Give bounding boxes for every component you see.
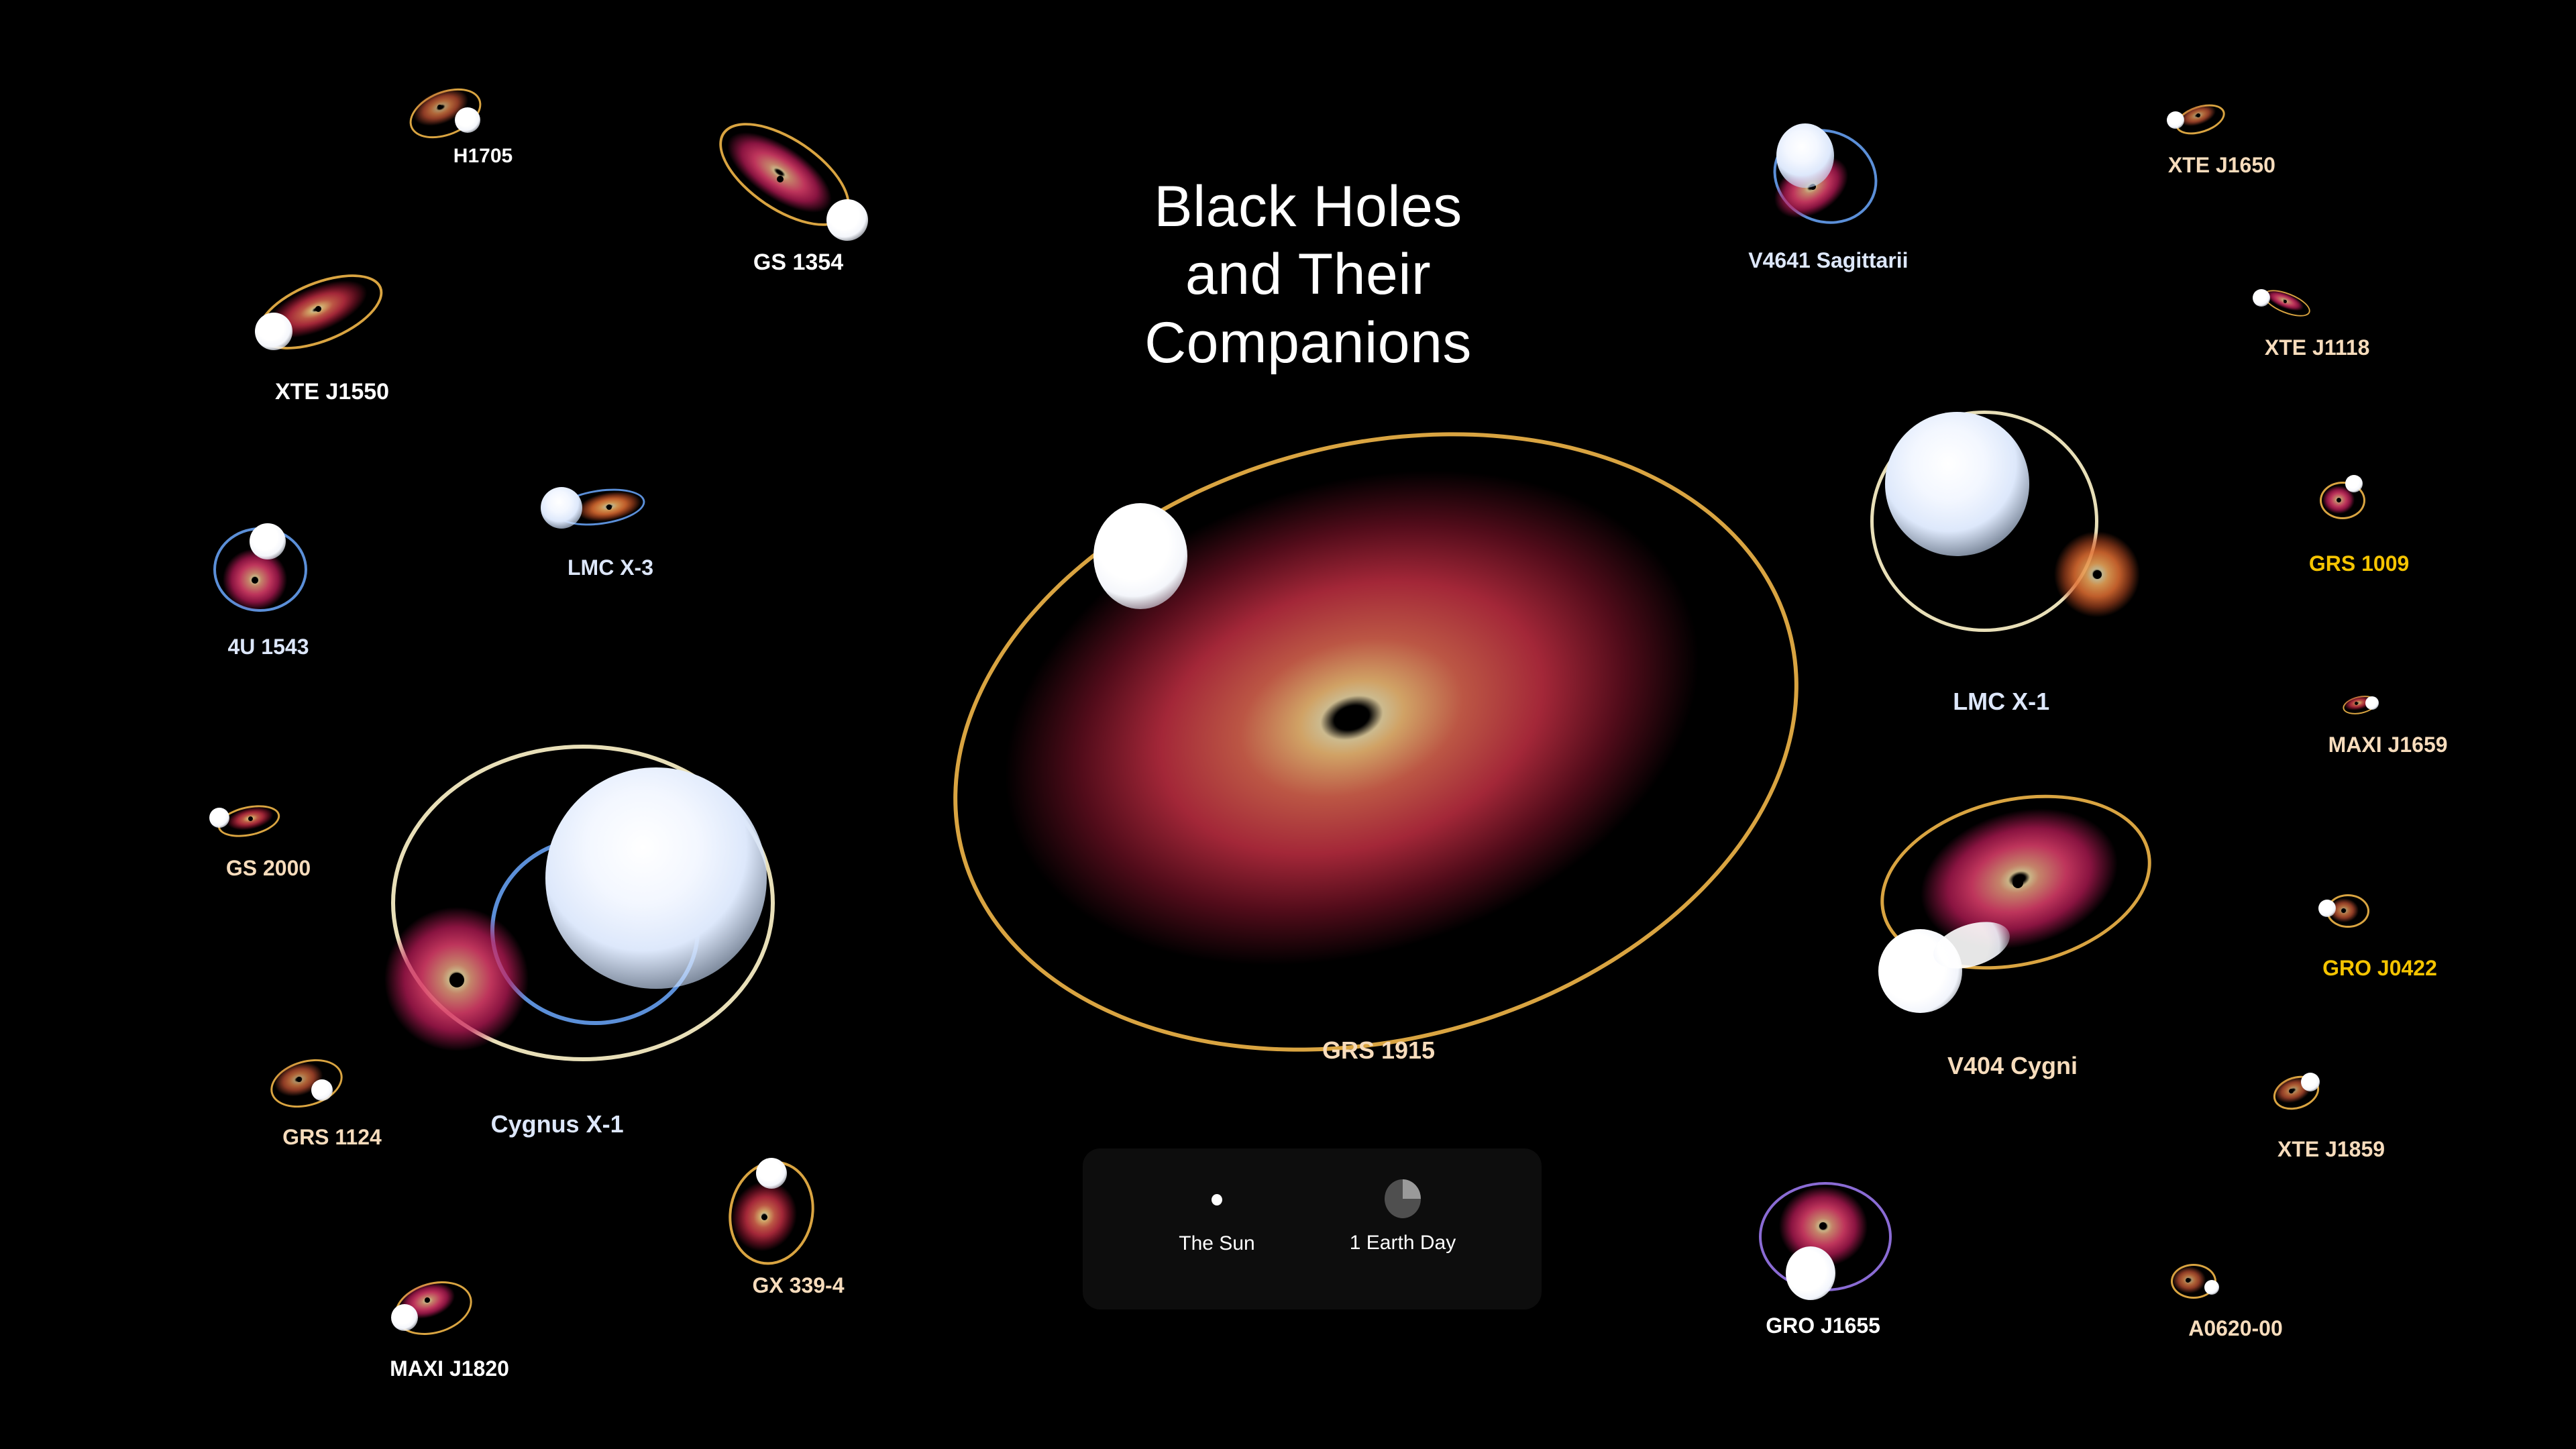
- black-hole-icon: [2093, 570, 2102, 579]
- system-grs1009[interactable]: GRS 1009: [2294, 470, 2449, 590]
- system-label: GRS 1124: [282, 1125, 382, 1150]
- companion-star-icon: [311, 1079, 333, 1101]
- companion-star-icon: [455, 107, 480, 133]
- black-hole-icon: [252, 577, 258, 584]
- companion-star-icon: [2318, 900, 2336, 917]
- companion-star-icon: [2167, 111, 2184, 129]
- system-v404cygni[interactable]: V404 Cygni: [1858, 792, 2194, 1073]
- black-hole-icon: [425, 1297, 430, 1303]
- black-hole-icon: [2012, 877, 2023, 888]
- system-label: GRS 1915: [1322, 1036, 1435, 1065]
- system-lmcx1[interactable]: LMC X-1: [1858, 402, 2207, 698]
- legend-item-the-sun: The Sun: [1143, 1178, 1291, 1255]
- companion-star-icon: [1885, 412, 2029, 556]
- system-xtej1859[interactable]: XTE J1859: [2247, 1063, 2415, 1177]
- system-groj0422[interactable]: GRO J0422: [2301, 889, 2469, 996]
- companion-star-icon: [209, 808, 229, 828]
- system-label: XTE J1650: [2168, 153, 2275, 178]
- legend-item-one-earth-day: 1 Earth Day: [1326, 1178, 1480, 1254]
- companion-star-icon: [2253, 289, 2270, 307]
- companion-star-icon: [2204, 1280, 2219, 1295]
- companion-star-icon: [250, 523, 286, 559]
- system-cygnusx1[interactable]: Cygnus X-1: [366, 731, 822, 1161]
- system-lmcx3[interactable]: LMC X-3: [517, 476, 704, 604]
- binary-art-v404cygni: [1858, 792, 2194, 1073]
- companion-star-icon: [826, 199, 868, 241]
- system-grs1915[interactable]: GRS 1915: [926, 396, 1831, 1080]
- black-hole-icon: [2186, 1278, 2190, 1283]
- sun-dot-icon: [1212, 1194, 1222, 1205]
- system-a0620[interactable]: A0620-00: [2147, 1254, 2314, 1362]
- companion-star-icon: [1776, 123, 1834, 188]
- black-hole-icon: [2341, 908, 2346, 913]
- system-xtej1650[interactable]: XTE J1650: [2140, 94, 2294, 201]
- black-hole-icon: [777, 176, 784, 182]
- system-maxij1659[interactable]: MAXI J1659: [2308, 684, 2462, 778]
- black-hole-icon: [1819, 1222, 1827, 1230]
- system-grs1124[interactable]: GRS 1124: [255, 1050, 409, 1164]
- black-hole-icon: [606, 504, 612, 510]
- binary-art-xtej1118: [2234, 278, 2388, 379]
- black-hole-icon: [449, 973, 464, 987]
- system-label: LMC X-3: [568, 555, 653, 580]
- binary-art-maxij1820: [366, 1275, 533, 1402]
- system-xtej1118[interactable]: XTE J1118: [2234, 278, 2388, 379]
- system-label: GRO J0422: [2322, 956, 2437, 981]
- black-hole-icon: [2289, 1089, 2294, 1093]
- black-hole-icon: [437, 105, 442, 109]
- system-label: H1705: [453, 145, 513, 168]
- black-hole-icon: [2284, 300, 2287, 303]
- system-label: LMC X-1: [1953, 688, 2049, 716]
- system-label: GS 1354: [753, 250, 843, 276]
- system-groj1655[interactable]: GRO J1655: [1744, 1174, 1932, 1335]
- system-label: V404 Cygni: [1947, 1052, 2078, 1080]
- scale-legend-panel: The Sun 1 Earth Day: [1083, 1148, 1542, 1309]
- binary-art-a0620: [2147, 1254, 2314, 1362]
- binary-art-xtej1650: [2140, 94, 2294, 201]
- system-h1705[interactable]: H1705: [402, 80, 563, 195]
- page-title: Black Holes and Their Companions: [1033, 173, 1583, 377]
- system-label: MAXI J1659: [2328, 733, 2448, 757]
- black-hole-icon: [315, 306, 321, 312]
- binary-art-lmcx3: [517, 476, 704, 604]
- companion-star-icon: [1093, 503, 1187, 609]
- system-label: GRS 1009: [2309, 551, 2409, 576]
- system-label: 4U 1543: [228, 635, 309, 659]
- binary-art-h1705: [402, 80, 563, 195]
- system-label: XTE J1550: [275, 379, 389, 405]
- system-v4641sgr[interactable]: V4641 Sagittarii: [1744, 114, 1966, 282]
- system-label: A0620-00: [2188, 1316, 2283, 1341]
- binary-art-4u1543: [174, 510, 362, 691]
- system-label: XTE J1118: [2265, 335, 2370, 360]
- system-label: GS 2000: [226, 856, 311, 881]
- binary-art-lmcx1: [1858, 402, 2207, 698]
- companion-star-icon: [2301, 1073, 2320, 1091]
- companion-star-icon: [391, 1304, 418, 1331]
- companion-star-icon: [756, 1158, 787, 1189]
- black-hole-icon: [761, 1214, 767, 1220]
- system-xtej1550[interactable]: XTE J1550: [221, 275, 443, 423]
- system-gx3394[interactable]: GX 339-4: [714, 1154, 882, 1322]
- binary-art-cygnusx1: [366, 731, 822, 1161]
- system-label: XTE J1859: [2277, 1137, 2385, 1162]
- companion-star-icon: [255, 313, 292, 350]
- system-label: MAXI J1820: [390, 1356, 509, 1381]
- companion-star-icon: [545, 767, 767, 989]
- black-hole-icon: [2196, 113, 2200, 117]
- companion-star-icon: [2345, 475, 2363, 492]
- black-hole-icon: [2355, 702, 2358, 705]
- system-gs2000[interactable]: GS 2000: [195, 792, 342, 899]
- binary-art-grs1915: [926, 396, 1831, 1080]
- system-maxij1820[interactable]: MAXI J1820: [366, 1275, 533, 1402]
- starfield-canvas: Black Holes and Their Companions H1705 G…: [0, 0, 2576, 1449]
- clock-pie-icon: [1385, 1179, 1421, 1218]
- legend-label-the-sun: The Sun: [1143, 1232, 1291, 1255]
- legend-label-one-earth-day: 1 Earth Day: [1326, 1232, 1480, 1254]
- binary-art-gs2000: [195, 792, 342, 899]
- system-gs1354[interactable]: GS 1354: [684, 134, 912, 288]
- binary-art-maxij1659: [2308, 684, 2462, 778]
- system-4u1543[interactable]: 4U 1543: [174, 510, 362, 691]
- system-label: GX 339-4: [753, 1273, 845, 1298]
- black-hole-icon: [1345, 710, 1361, 726]
- system-label: GRO J1655: [1766, 1313, 1880, 1338]
- binary-art-groj1655: [1744, 1174, 1932, 1335]
- companion-star-icon: [2365, 696, 2379, 710]
- system-label: Cygnus X-1: [491, 1110, 624, 1138]
- black-hole-icon: [297, 1077, 302, 1082]
- system-label: V4641 Sagittarii: [1748, 248, 1908, 273]
- black-hole-icon: [2337, 498, 2341, 502]
- companion-star-icon: [1786, 1246, 1835, 1300]
- companion-star-icon: [541, 487, 582, 529]
- black-hole-icon: [248, 816, 253, 821]
